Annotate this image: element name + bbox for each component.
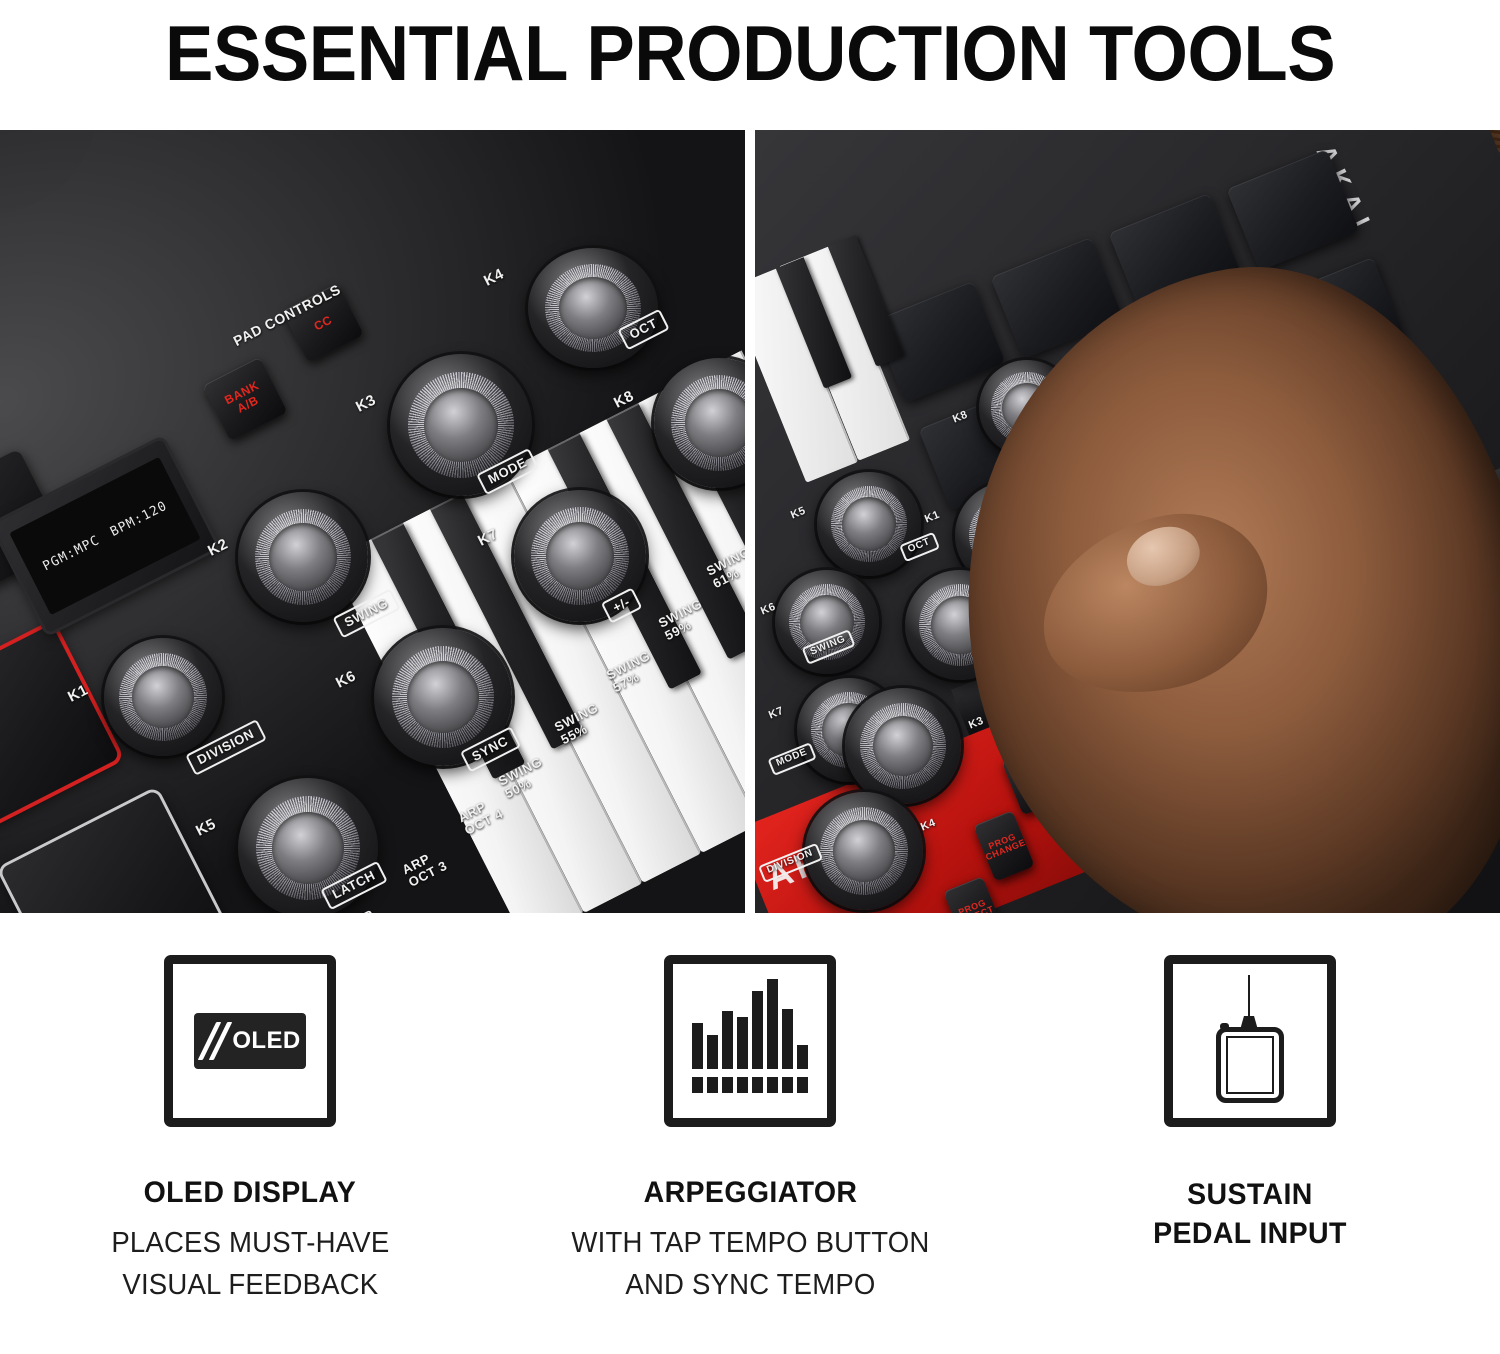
feature-list: OLED OLED DISPLAY PLACES MUST-HAVE VISUA… xyxy=(0,955,1500,1354)
knob-k6[interactable] xyxy=(775,570,879,674)
feature-title: ARPEGGIATOR xyxy=(643,1175,857,1212)
page-title: ESSENTIAL PRODUCTION TOOLS xyxy=(165,8,1335,99)
feature-title: SUSTAIN PEDAL INPUT xyxy=(1153,1175,1347,1253)
oled-badge: OLED xyxy=(194,1013,306,1069)
bar-chart-glyph xyxy=(690,983,810,1099)
knob-k4[interactable] xyxy=(528,248,658,368)
sustain-pedal-icon xyxy=(1164,955,1336,1127)
feature-subtitle: WITH TAP TEMPO BUTTON AND SYNC TEMPO xyxy=(571,1222,929,1306)
product-photo-strip: PGM:MPC BPM:120 CC BANK A/B PAD CONTROLS… xyxy=(0,130,1500,913)
feature-arpeggiator: ARPEGGIATOR WITH TAP TEMPO BUTTON AND SY… xyxy=(500,955,1000,1354)
page-header: ESSENTIAL PRODUCTION TOOLS xyxy=(0,0,1500,100)
oled-program-text: PGM:MPC xyxy=(40,532,102,573)
photo-usb-connection: AKAI AKAI BANK A/B CC xyxy=(755,130,1500,913)
knob-k1[interactable] xyxy=(104,638,222,756)
feature-title: OLED DISPLAY xyxy=(144,1175,357,1212)
oled-icon-label: OLED xyxy=(232,1027,300,1055)
knob-k2[interactable] xyxy=(238,492,368,622)
oled-display-icon: OLED xyxy=(164,955,336,1127)
oled-tempo-text: BPM:120 xyxy=(108,498,170,539)
knob-k4[interactable] xyxy=(805,792,923,910)
shine-slashes-icon xyxy=(203,1024,229,1058)
pedal-plate-icon xyxy=(1226,1036,1274,1094)
arpeggiator-bars-icon xyxy=(664,955,836,1127)
feature-subtitle: PLACES MUST-HAVE VISUAL FEEDBACK xyxy=(111,1222,389,1306)
feature-oled-display: OLED OLED DISPLAY PLACES MUST-HAVE VISUA… xyxy=(0,955,500,1354)
knob-k3[interactable] xyxy=(845,688,961,804)
feature-sustain-pedal: SUSTAIN PEDAL INPUT xyxy=(1000,955,1500,1354)
pedal-cable-icon xyxy=(1248,975,1250,1019)
photo-mpk-mini-top-panel: PGM:MPC BPM:120 CC BANK A/B PAD CONTROLS… xyxy=(0,130,745,913)
pedal-glyph xyxy=(1190,975,1310,1107)
